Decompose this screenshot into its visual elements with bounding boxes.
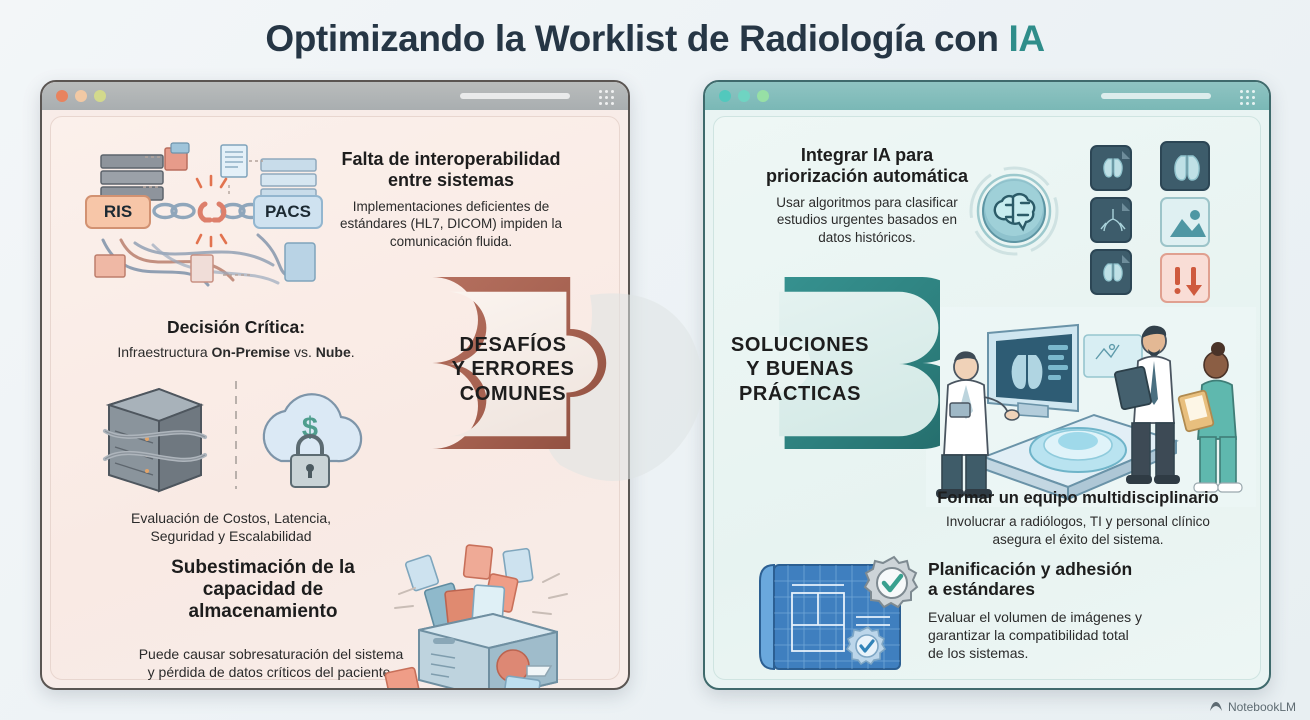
pacs-label: PACS [265, 202, 311, 222]
challenge-3-heading-line3: almacenamiento [113, 601, 413, 623]
page-title-main: Optimizando la Worklist de Radiología co… [265, 18, 1008, 59]
interoperability-diagram: RIS PACS [73, 135, 328, 290]
lung-file-icon [1090, 197, 1132, 243]
solution-block-planning: Planificación y adhesión a estándares Ev… [928, 559, 1228, 662]
address-bar[interactable] [1101, 93, 1211, 99]
ris-node: RIS [85, 195, 151, 229]
ai-brain-badge [966, 163, 1062, 259]
puzzle-left-line3: COMUNES [428, 382, 598, 406]
close-dot-icon[interactable] [719, 90, 731, 102]
grip-dots-icon [599, 90, 614, 105]
challenge-block-storage: Subestimación de la capacidad de almacen… [113, 557, 413, 623]
puzzle-right-line3: PRÁCTICAS [710, 382, 890, 406]
challenge-2-body-suffix: . [351, 344, 355, 360]
overflowing-box-icon [381, 542, 596, 690]
notebooklm-brand-label: NotebookLM [1228, 700, 1296, 714]
lung-file-icon [1090, 249, 1132, 295]
puzzle-right-line1: SOLUCIONES [710, 333, 890, 357]
minimize-dot-icon[interactable] [75, 90, 87, 102]
solution-2-heading: Formar un equipo multidisciplinario [904, 489, 1252, 508]
challenge-2-body-mid: vs. [290, 344, 316, 360]
lung-xray-icon [1160, 141, 1210, 191]
challenge-3-heading-line2: capacidad de [113, 579, 413, 601]
challenge-block-decision: Decisión Crítica: Infraestructura On-Pre… [71, 317, 401, 361]
team-illustration-icon [926, 307, 1256, 507]
challenge-1-body-line2: estándares (HL7, DICOM) impiden la [321, 215, 581, 233]
priority-worklist-tiles [1086, 139, 1226, 299]
priority-alert-icon [1160, 253, 1210, 303]
image-photo-icon [1160, 197, 1210, 247]
minimize-dot-icon[interactable] [738, 90, 750, 102]
puzzle-right-line2: Y BUENAS [710, 357, 890, 381]
puzzle-label-challenges: DESAFÍOS Y ERRORES COMUNES [428, 333, 598, 406]
page-title: Optimizando la Worklist de Radiología co… [0, 8, 1310, 70]
address-bar[interactable] [460, 93, 570, 99]
solution-1-body-line2: estudios urgentes basados en [742, 211, 992, 229]
maximize-dot-icon[interactable] [94, 90, 106, 102]
planning-blueprint-art [750, 549, 926, 689]
page-title-accent: IA [1008, 18, 1044, 59]
solution-block-team: Formar un equipo multidisciplinario Invo… [904, 489, 1252, 548]
solution-2-body-line2: asegura el éxito del sistema. [904, 531, 1252, 549]
evaluation-caption-line1: Evaluación de Costos, Latencia, [71, 509, 391, 527]
lung-file-icon [1090, 145, 1132, 191]
puzzle-label-solutions: SOLUCIONES Y BUENAS PRÁCTICAS [710, 333, 890, 406]
blueprint-gear-icon [750, 549, 926, 689]
grip-dots-icon [1240, 90, 1255, 105]
challenge-1-heading-line2: entre sistemas [321, 170, 581, 191]
notebooklm-badge: NotebookLM [1209, 700, 1296, 714]
pacs-node: PACS [253, 195, 323, 229]
ris-label: RIS [104, 202, 132, 222]
challenge-2-body-nube: Nube [316, 344, 351, 360]
solution-1-heading-line1: Integrar IA para [742, 145, 992, 166]
brain-icon [966, 163, 1062, 259]
solution-1-body-line1: Usar algoritmos para clasificar [742, 194, 992, 212]
window-dots-right [719, 90, 769, 102]
solution-3-body-line2: garantizar la compatibilidad total [928, 626, 1228, 644]
puzzle-left-line2: Y ERRORES [428, 357, 598, 381]
solution-3-body-line3: de los sistemas. [928, 644, 1228, 662]
challenge-2-body-prefix: Infraestructura [117, 344, 211, 360]
window-chrome-right [705, 82, 1269, 110]
window-dots-left [56, 90, 106, 102]
solution-3-heading-line2: a estándares [928, 579, 1228, 599]
server-cloud-icon: $ [81, 375, 391, 495]
challenge-1-heading-line1: Falta de interoperabilidad [321, 149, 581, 170]
solution-3-heading-line1: Planificación y adhesión [928, 559, 1228, 579]
window-chrome-left [42, 82, 628, 110]
solution-3-body-line1: Evaluar el volumen de imágenes y [928, 608, 1228, 626]
onpremise-vs-cloud-art: $ [81, 375, 391, 495]
multidisciplinary-team-art [926, 307, 1256, 507]
storage-overflow-art [381, 542, 596, 690]
evaluation-caption-line2: Seguridad y Escalabilidad [71, 527, 391, 545]
notebooklm-logo-icon [1209, 700, 1223, 714]
close-dot-icon[interactable] [56, 90, 68, 102]
challenge-3-heading-line1: Subestimación de la [113, 557, 413, 579]
solution-2-body-line1: Involucrar a radiólogos, TI y personal c… [904, 513, 1252, 531]
center-puzzle: DESAFÍOS Y ERRORES COMUNES SOLUCIONES Y … [380, 235, 940, 500]
solution-block-ai-priority: Integrar IA para priorización automática… [742, 145, 992, 246]
challenge-2-body-onpremise: On-Premise [212, 344, 291, 360]
maximize-dot-icon[interactable] [757, 90, 769, 102]
challenge-2-heading: Decisión Crítica: [71, 317, 401, 337]
challenge-block-evaluation-caption: Evaluación de Costos, Latencia, Segurida… [71, 509, 391, 545]
challenge-1-body-line1: Implementaciones deficientes de [321, 198, 581, 216]
puzzle-left-line1: DESAFÍOS [428, 333, 598, 357]
solution-1-heading-line2: priorización automática [742, 166, 992, 187]
